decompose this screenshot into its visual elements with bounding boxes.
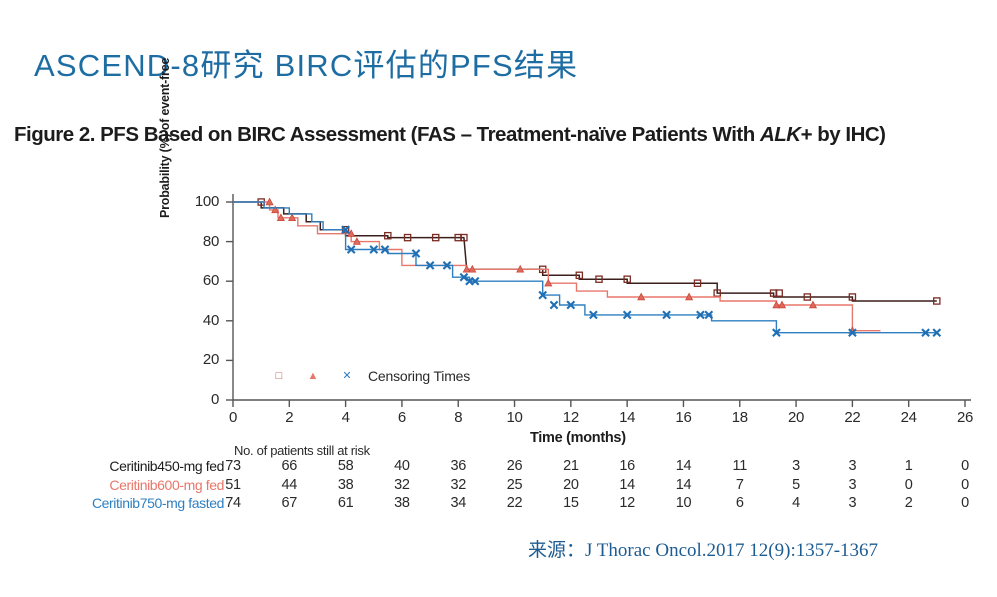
x-tick-label: 18 (727, 409, 753, 426)
risk-row-label: Ceritinib450-mg fed (2, 458, 232, 474)
x-tick-label: 22 (839, 409, 865, 426)
risk-table-cell: 20 (556, 477, 586, 493)
risk-row-label: Ceritinib600-mg fed (2, 477, 232, 493)
risk-table-cell: 3 (781, 458, 811, 474)
risk-table-cell: 32 (387, 477, 417, 493)
x-tick-label: 26 (952, 409, 978, 426)
risk-table-cell: 25 (500, 477, 530, 493)
x-tick-label: 20 (783, 409, 809, 426)
risk-table-cell: 16 (612, 458, 642, 474)
censor-cross-icon (550, 301, 557, 308)
risk-table-cell: 3 (837, 458, 867, 474)
risk-table-row: Ceritinib750-mg fasted746761383422151210… (0, 495, 997, 514)
risk-table-cell: 15 (556, 495, 586, 511)
risk-table-cell: 26 (500, 458, 530, 474)
risk-table-cell: 0 (894, 477, 924, 493)
y-tick-label: 0 (185, 391, 219, 408)
risk-table-cell: 58 (331, 458, 361, 474)
y-axis-title: Probability (%) of event-free (158, 18, 176, 218)
risk-row-label-holder: Ceritinib600-mg fed (0, 477, 232, 496)
series-line-1 (233, 202, 881, 331)
y-tick-label: 40 (185, 312, 219, 329)
y-tick-label: 20 (185, 351, 219, 368)
x-tick-label: 16 (670, 409, 696, 426)
risk-table-cell: 1 (894, 458, 924, 474)
x-tick-label: 6 (389, 409, 415, 426)
risk-table-cell: 0 (950, 477, 980, 493)
risk-table-cell: 66 (274, 458, 304, 474)
risk-table-cell: 14 (668, 458, 698, 474)
risk-table-cell: 3 (837, 495, 867, 511)
risk-table-cell: 5 (781, 477, 811, 493)
risk-table-cell: 38 (331, 477, 361, 493)
x-tick-label: 4 (333, 409, 359, 426)
risk-row-label-holder: Ceritinib450-mg fed (0, 458, 232, 477)
legend-triangle-icon: ▲ (296, 371, 330, 382)
y-tick-label: 80 (185, 233, 219, 250)
risk-table-cell: 34 (443, 495, 473, 511)
risk-table-cell: 21 (556, 458, 586, 474)
risk-table-cell: 0 (950, 458, 980, 474)
risk-table-row: Ceritinib450-mg fed736658403626211614113… (0, 458, 997, 477)
risk-table-cell: 22 (500, 495, 530, 511)
x-axis-title: Time (months) (530, 430, 626, 446)
risk-table-cell: 38 (387, 495, 417, 511)
x-tick-label: 0 (220, 409, 246, 426)
risk-table-cell: 14 (668, 477, 698, 493)
risk-table-cell: 44 (274, 477, 304, 493)
risk-table-row: Ceritinib600-mg fed514438323225201414753… (0, 477, 997, 496)
risk-table-header: No. of patients still at risk (234, 443, 370, 458)
risk-table-cell: 10 (668, 495, 698, 511)
risk-row-label: Ceritinib750-mg fasted (2, 495, 232, 511)
risk-table-cell: 2 (894, 495, 924, 511)
risk-table-cell: 7 (725, 477, 755, 493)
risk-table-cell: 51 (218, 477, 248, 493)
risk-table-cell: 73 (218, 458, 248, 474)
risk-table-cell: 6 (725, 495, 755, 511)
risk-table-cell: 0 (950, 495, 980, 511)
y-tick-label: 100 (185, 193, 219, 210)
risk-table-cell: 12 (612, 495, 642, 511)
x-tick-label: 2 (276, 409, 302, 426)
risk-table-cell: 3 (837, 477, 867, 493)
risk-table-cell: 11 (725, 458, 755, 474)
censor-markers-0 (258, 199, 940, 304)
risk-row-label-holder: Ceritinib750-mg fasted (0, 495, 232, 514)
risk-table-cell: 36 (443, 458, 473, 474)
risk-table: Ceritinib450-mg fed736658403626211614113… (0, 458, 997, 514)
series-line-0 (233, 202, 937, 301)
risk-table-cell: 67 (274, 495, 304, 511)
risk-table-cell: 14 (612, 477, 642, 493)
x-tick-label: 8 (445, 409, 471, 426)
risk-table-cell: 4 (781, 495, 811, 511)
series-line-2 (233, 202, 937, 333)
source-citation: 来源：J Thorac Oncol.2017 12(9):1357-1367 (528, 535, 878, 562)
risk-table-cell: 61 (331, 495, 361, 511)
x-tick-label: 10 (502, 409, 528, 426)
risk-table-cell: 74 (218, 495, 248, 511)
risk-table-cell: 32 (443, 477, 473, 493)
y-tick-label: 60 (185, 272, 219, 289)
legend-cross-icon: ✕ (330, 371, 364, 382)
censoring-legend: □ ▲ ✕ Censoring Times (262, 368, 470, 384)
legend-label-censoring-times: Censoring Times (368, 368, 470, 384)
x-tick-label: 24 (896, 409, 922, 426)
censor-markers-1 (266, 198, 856, 333)
legend-square-icon: □ (262, 371, 296, 382)
x-tick-label: 14 (614, 409, 640, 426)
censor-markers-2 (342, 226, 940, 336)
risk-table-cell: 40 (387, 458, 417, 474)
x-tick-label: 12 (558, 409, 584, 426)
slide-canvas: ASCEND-8研究 BIRC评估的PFS结果 Figure 2. PFS Ba… (0, 0, 997, 597)
